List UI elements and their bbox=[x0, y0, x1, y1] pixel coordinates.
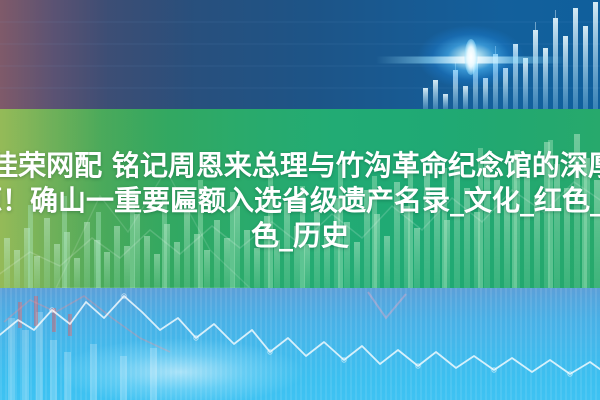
stock-chart-artwork bbox=[0, 0, 600, 400]
candlestick-bars-upper bbox=[423, 2, 598, 109]
grid-lines-upper bbox=[0, 22, 600, 88]
candlestick-bars-middle bbox=[4, 134, 600, 288]
article-thumbnail-banner: 佳荣网配 铭记周恩来总理与竹沟革命纪念馆的深厚 源！确山一重要匾额入选省级遗产名… bbox=[0, 0, 600, 400]
trend-line-lower bbox=[0, 292, 600, 400]
